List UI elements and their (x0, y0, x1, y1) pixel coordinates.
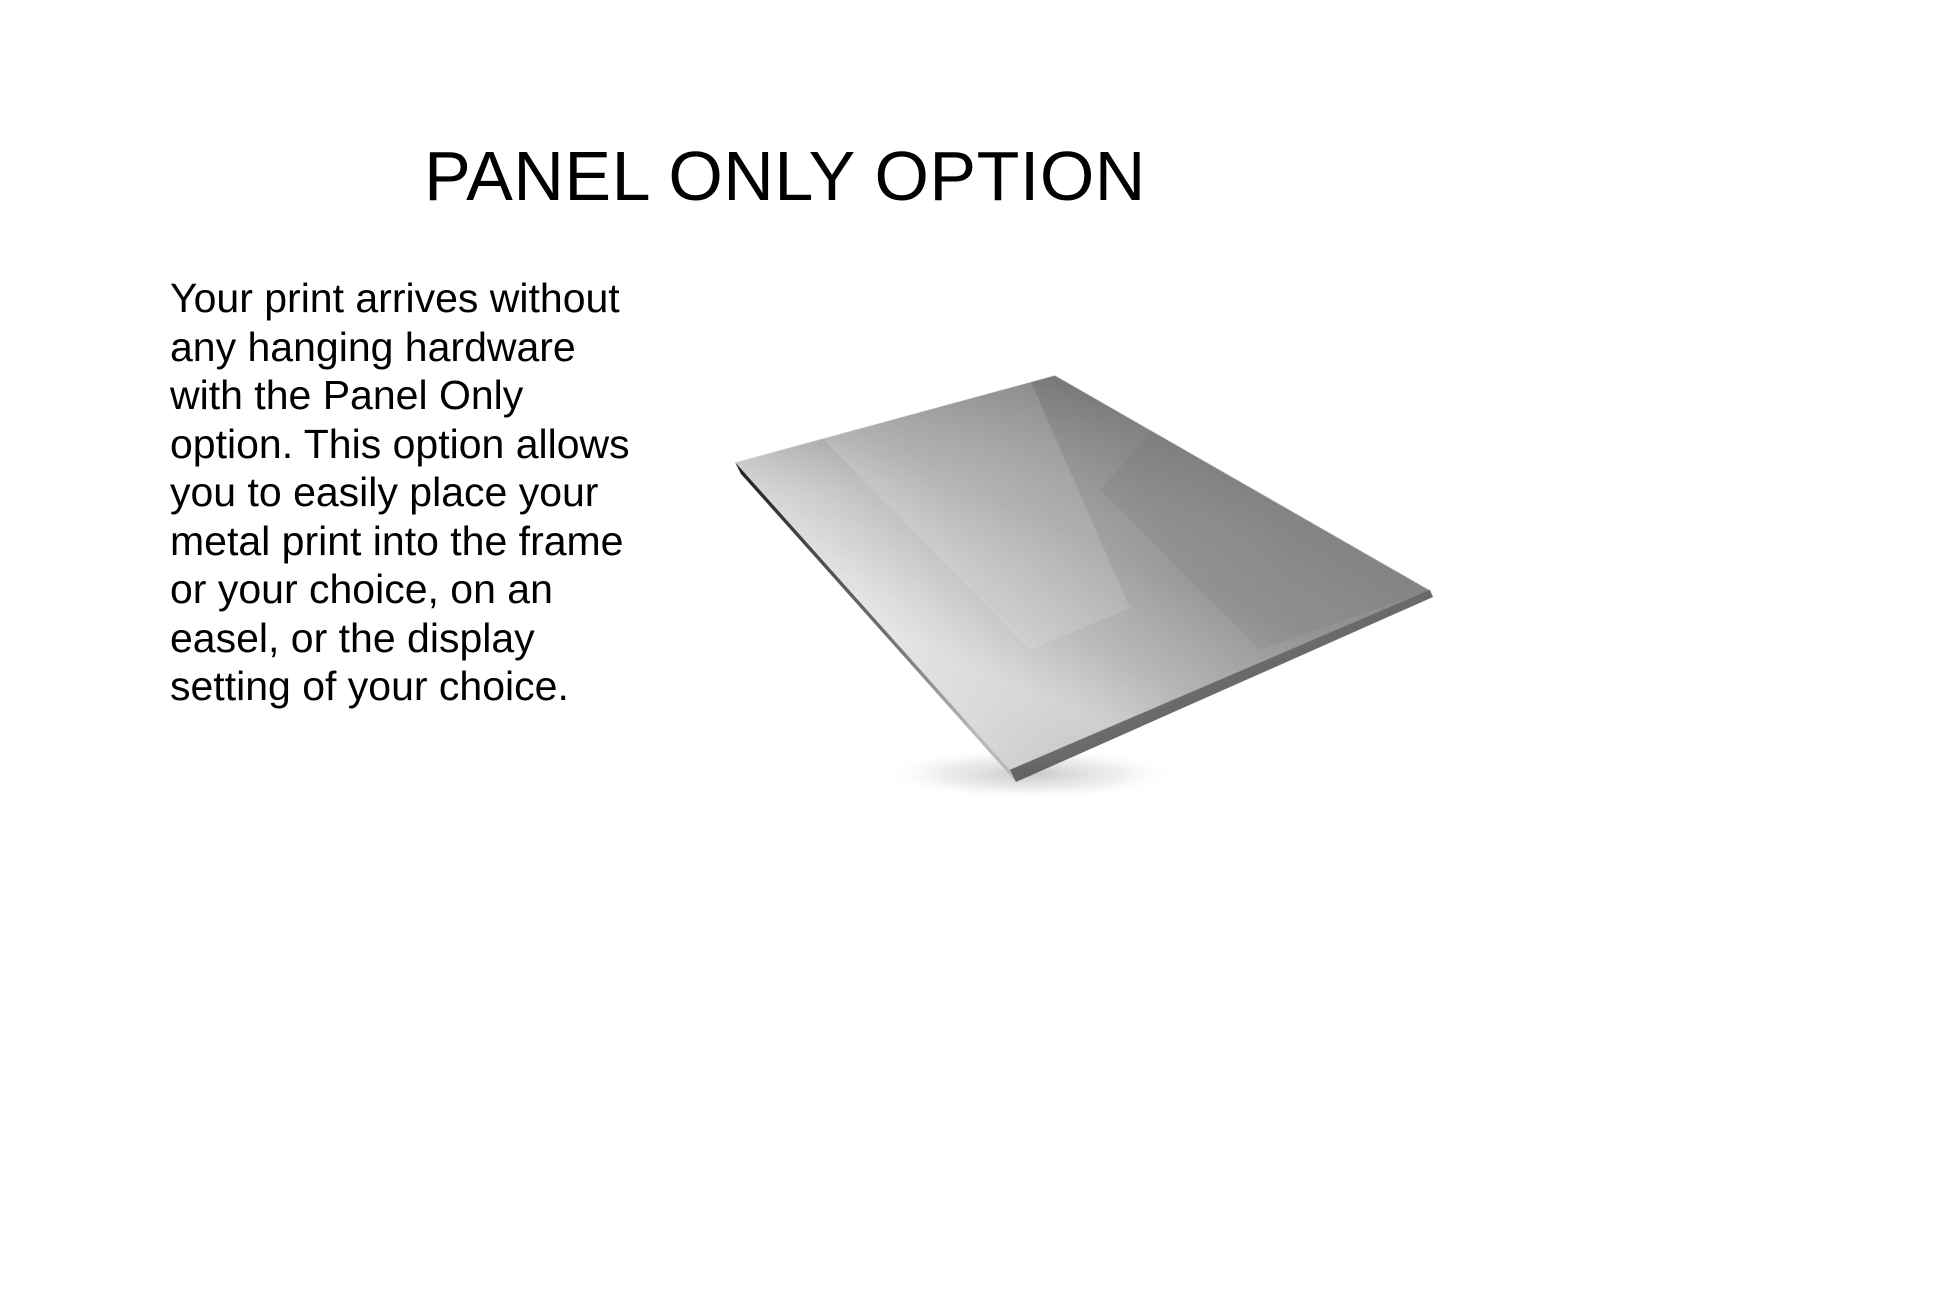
metal-panel-illustration (700, 350, 1480, 810)
page-title: PANEL ONLY OPTION (0, 139, 1570, 215)
slide-canvas: PANEL ONLY OPTION Your print arrives wit… (0, 0, 1946, 1297)
metal-panel-svg (700, 350, 1480, 810)
body-paragraph: Your print arrives without any hanging h… (170, 274, 640, 711)
